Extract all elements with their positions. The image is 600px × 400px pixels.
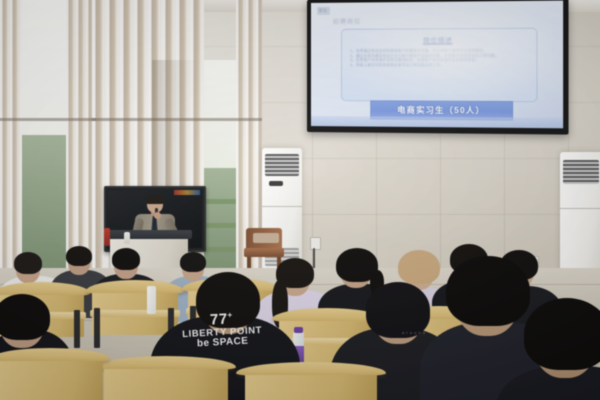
desk-leg bbox=[94, 308, 100, 348]
student-hair bbox=[524, 298, 600, 370]
student-hair bbox=[0, 294, 50, 340]
desk-row-front bbox=[96, 356, 236, 400]
desk-leg bbox=[74, 310, 80, 348]
white-bottle bbox=[124, 232, 130, 244]
desk-row-front bbox=[236, 362, 386, 400]
hoodie-small-text: a r o u n d bbox=[402, 330, 426, 335]
presenter-hand bbox=[154, 212, 161, 219]
red-thermos bbox=[104, 228, 110, 246]
lecture-hall-photo: 职位 招聘岗位 岗位描述 1、负责通过电话及网络渠道客户的需求与沟通，为公司客户… bbox=[0, 0, 600, 400]
desk-front bbox=[245, 375, 377, 400]
chair-seat bbox=[244, 248, 284, 257]
ac-seam bbox=[262, 206, 302, 207]
desk-front bbox=[0, 361, 103, 400]
ac-vent bbox=[563, 160, 598, 184]
presenter-hair bbox=[146, 195, 164, 204]
curtain-rod bbox=[0, 118, 96, 121]
student-hair bbox=[66, 246, 92, 266]
desk-row-front bbox=[0, 348, 110, 400]
screen-glow bbox=[311, 1, 563, 129]
white-water-bottle bbox=[147, 286, 156, 314]
air-conditioner-right bbox=[560, 152, 600, 274]
desk-front bbox=[104, 369, 227, 400]
ac-seam bbox=[560, 208, 600, 209]
wall-socket bbox=[310, 237, 321, 250]
student-hair bbox=[180, 252, 206, 272]
student-hair bbox=[14, 252, 42, 274]
student-hair bbox=[112, 248, 140, 270]
ac-display bbox=[269, 181, 283, 186]
chair-back bbox=[246, 228, 282, 248]
monitor-color-strip bbox=[174, 190, 200, 195]
chair-back-panel bbox=[253, 233, 279, 243]
projection-screen-frame: 职位 招聘岗位 岗位描述 1、负责通过电话及网络渠道客户的需求与沟通，为公司客户… bbox=[307, 0, 568, 135]
jacket-graphic-text: 77+ LIBERTY POINT be SPACE bbox=[167, 309, 277, 351]
projection-screen: 职位 招聘岗位 岗位描述 1、负责通过电话及网络渠道客户的需求与沟通，为公司客户… bbox=[311, 1, 563, 129]
lectern-top bbox=[106, 230, 192, 239]
student-hair bbox=[446, 256, 530, 326]
bottle-cap bbox=[294, 327, 303, 333]
student-hair-blonde bbox=[398, 250, 440, 284]
ac-vent bbox=[265, 154, 299, 176]
